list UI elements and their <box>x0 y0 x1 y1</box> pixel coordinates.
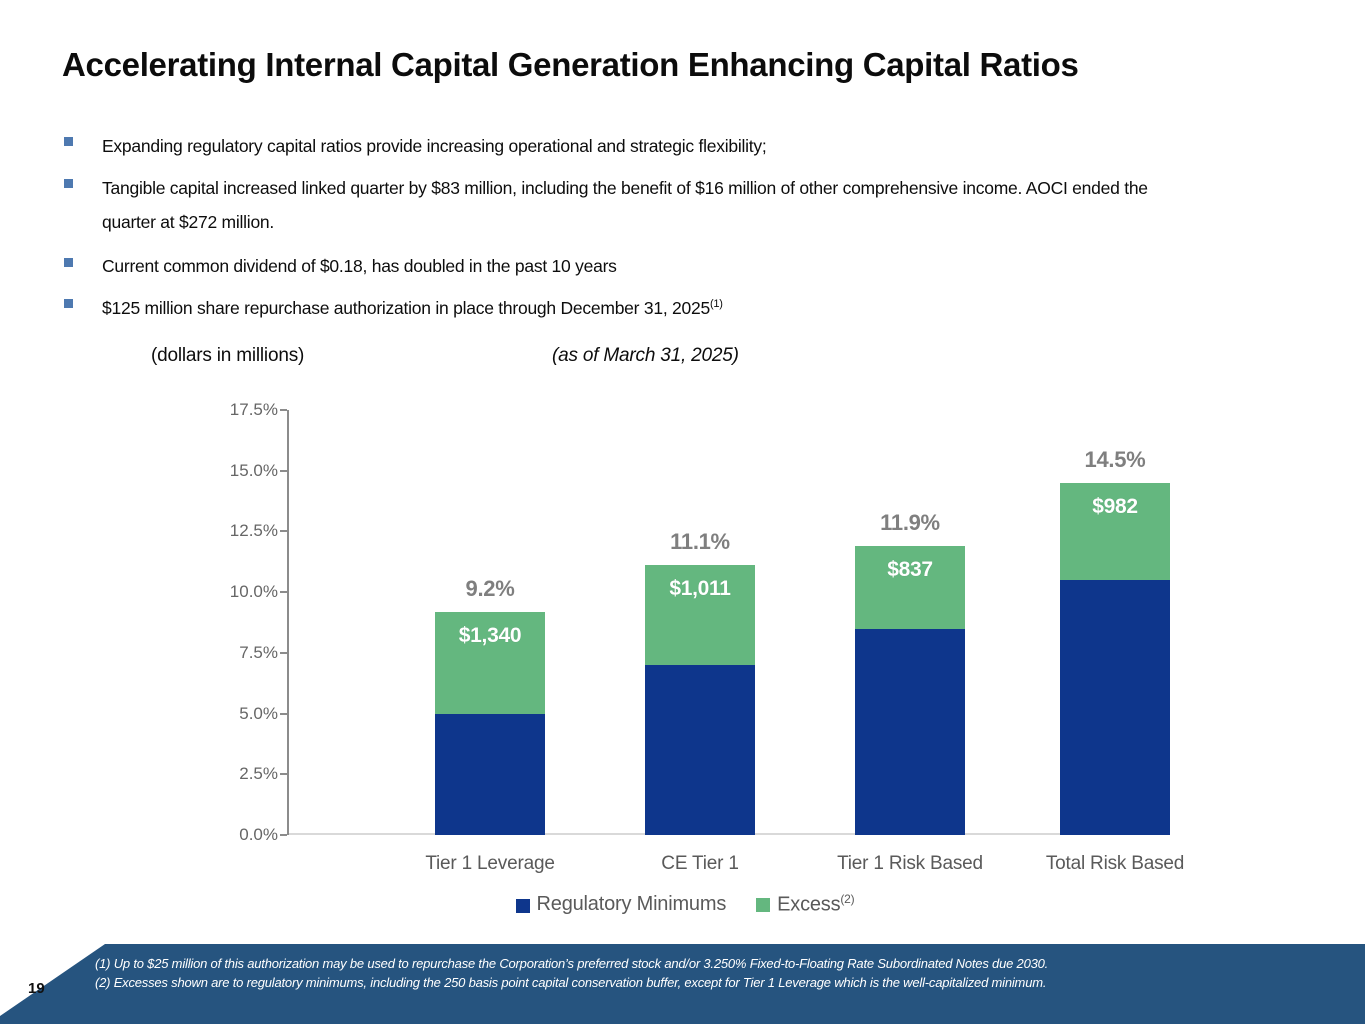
footer: (1) Up to $25 million of this authorizat… <box>0 944 1365 1024</box>
bar-segment-regulatory-minimums <box>645 665 755 835</box>
bullet-text: $125 million share repurchase authorizat… <box>102 298 723 318</box>
legend-swatch <box>756 898 770 912</box>
bar-value-label: $982 <box>1092 495 1138 519</box>
chart-legend: Regulatory MinimumsExcess(2) <box>195 892 1175 917</box>
bar-segment-regulatory-minimums <box>855 629 965 835</box>
bar-value-label: $837 <box>887 558 933 582</box>
x-axis-category-label: CE Tier 1 <box>620 853 780 875</box>
footnotes: (1) Up to $25 million of this authorizat… <box>95 954 1145 992</box>
bullet-text: Current common dividend of $0.18, has do… <box>102 256 617 276</box>
bullet-text: Expanding regulatory capital ratios prov… <box>102 136 767 156</box>
bullet-text: Tangible capital increased linked quarte… <box>102 178 1148 198</box>
legend-item[interactable]: Regulatory Minimums <box>516 893 727 916</box>
chart-bar: $1,011 <box>645 565 755 835</box>
page-number: 19 <box>28 980 45 997</box>
list-item: $125 million share repurchase authorizat… <box>60 292 1330 321</box>
legend-label: Regulatory Minimums <box>537 893 727 916</box>
list-item: Tangible capital increased linked quarte… <box>60 172 1330 201</box>
bar-segment-excess: $837 <box>855 546 965 629</box>
y-axis-tick-mark <box>280 409 287 411</box>
y-axis-tick-mark <box>280 470 287 472</box>
y-axis-line <box>287 410 289 835</box>
bar-total-label: 11.1% <box>645 529 755 555</box>
bar-value-label: $1,011 <box>669 577 730 601</box>
y-axis-tick-mark <box>280 591 287 593</box>
bullet-marker-icon <box>64 258 73 267</box>
x-axis-category-label: Tier 1 Leverage <box>410 853 570 875</box>
y-axis-tick-label: 2.5% <box>239 764 278 784</box>
list-item: Expanding regulatory capital ratios prov… <box>60 130 1330 159</box>
plot-area: $1,3409.2%Tier 1 Leverage$1,01111.1%CE T… <box>290 410 1150 835</box>
bullet-list: Expanding regulatory capital ratios prov… <box>60 130 1330 334</box>
bullet-marker-icon <box>64 137 73 146</box>
chart-bar: $1,340 <box>435 612 545 835</box>
chart-units-caption: (dollars in millions) <box>151 345 304 367</box>
bar-segment-excess: $1,011 <box>645 565 755 665</box>
bar-segment-regulatory-minimums <box>435 714 545 835</box>
y-axis-tick-label: 7.5% <box>239 643 278 663</box>
chart-asof-caption: (as of March 31, 2025) <box>552 345 739 367</box>
y-axis-tick-label: 0.0% <box>239 825 278 845</box>
y-axis-tick-mark <box>280 834 287 836</box>
legend-swatch <box>516 899 530 913</box>
bar-total-label: 14.5% <box>1060 447 1170 473</box>
y-axis-tick-mark <box>280 773 287 775</box>
y-axis-tick-mark <box>280 652 287 654</box>
footnote-2: (2) Excesses shown are to regulatory min… <box>95 973 1145 992</box>
x-axis-category-label: Tier 1 Risk Based <box>830 853 990 875</box>
capital-ratios-stacked-bar-chart: 0.0%2.5%5.0%7.5%10.0%12.5%15.0%17.5% $1,… <box>195 400 1175 930</box>
slide: Accelerating Internal Capital Generation… <box>0 0 1365 1024</box>
bar-segment-excess: $1,340 <box>435 612 545 714</box>
footnote-1: (1) Up to $25 million of this authorizat… <box>95 954 1145 973</box>
bar-total-label: 9.2% <box>435 576 545 602</box>
bar-segment-regulatory-minimums <box>1060 580 1170 835</box>
legend-label: Excess(2) <box>777 892 854 917</box>
bar-total-label: 11.9% <box>855 510 965 536</box>
chart-bar: $982 <box>1060 483 1170 835</box>
y-axis-tick-label: 17.5% <box>230 400 278 420</box>
y-axis-tick-label: 5.0% <box>239 704 278 724</box>
bullet-marker-icon <box>64 299 73 308</box>
y-axis-tick-mark <box>280 713 287 715</box>
chart-bar: $837 <box>855 546 965 835</box>
bullet-continuation-text: quarter at $272 million. <box>60 210 1330 235</box>
bar-value-label: $1,340 <box>459 624 521 648</box>
x-axis-category-label: Total Risk Based <box>1035 853 1195 875</box>
y-axis-tick-mark <box>280 530 287 532</box>
bullet-marker-icon <box>64 179 73 188</box>
y-axis-tick-label: 15.0% <box>230 461 278 481</box>
legend-item[interactable]: Excess(2) <box>756 892 854 917</box>
y-axis-tick-label: 12.5% <box>230 521 278 541</box>
bar-segment-excess: $982 <box>1060 483 1170 580</box>
y-axis-tick-label: 10.0% <box>230 582 278 602</box>
list-item: Current common dividend of $0.18, has do… <box>60 251 1330 280</box>
page-title: Accelerating Internal Capital Generation… <box>62 46 1262 84</box>
